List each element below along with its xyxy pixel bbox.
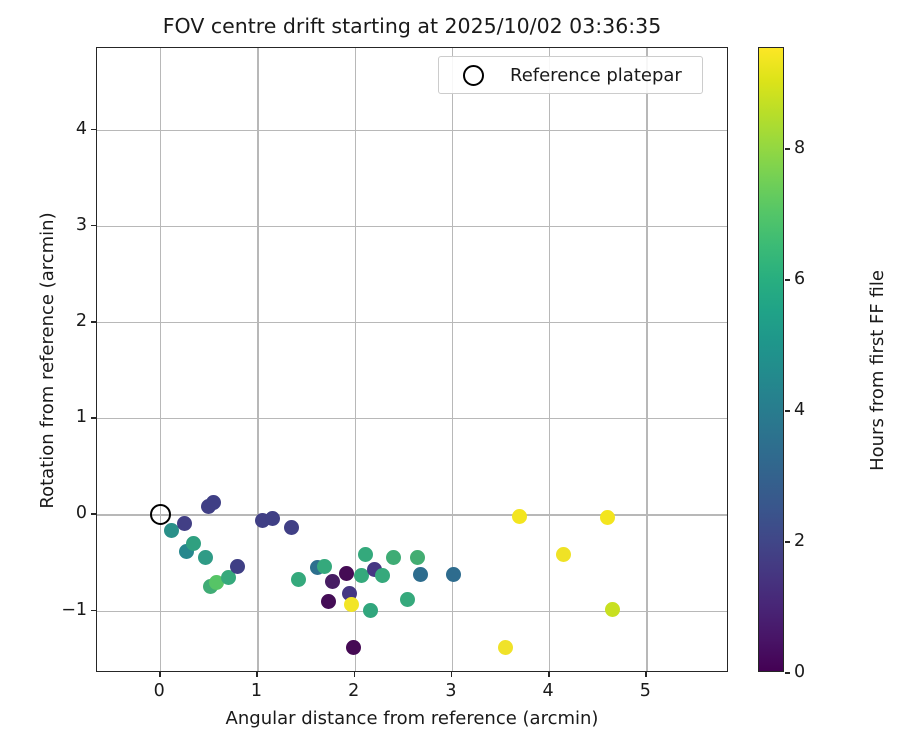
colorbar-tick-label: 6 — [794, 269, 805, 289]
scatter-point — [413, 567, 428, 582]
y-tick — [91, 513, 96, 515]
y-tick — [91, 225, 96, 227]
reference-platepar-point — [150, 504, 171, 525]
x-tick-label: 5 — [640, 681, 651, 701]
scatter-point — [358, 547, 373, 562]
plot-area — [96, 47, 728, 672]
scatter-point — [386, 550, 401, 565]
scatter-point — [265, 511, 280, 526]
y-tick-label: 2 — [76, 311, 87, 331]
x-tick-label: 0 — [154, 681, 165, 701]
scatter-point — [498, 640, 513, 655]
y-axis-label: Rotation from reference (arcmin) — [37, 48, 58, 673]
scatter-point — [605, 602, 620, 617]
scatter-point — [344, 597, 359, 612]
x-tick-label: 2 — [348, 681, 359, 701]
scatter-points-layer — [97, 48, 727, 671]
colorbar-tick — [785, 148, 790, 150]
colorbar-label: Hours from first FF file — [867, 58, 888, 683]
x-tick — [645, 672, 647, 677]
scatter-point — [317, 559, 332, 574]
colorbar — [758, 47, 784, 672]
y-tick-label: −1 — [61, 600, 87, 620]
scatter-point — [375, 568, 390, 583]
scatter-point — [321, 594, 336, 609]
chart-title: FOV centre drift starting at 2025/10/02 … — [96, 14, 728, 38]
y-tick — [91, 129, 96, 131]
x-tick — [256, 672, 258, 677]
y-tick — [91, 417, 96, 419]
colorbar-tick — [785, 410, 790, 412]
scatter-point — [512, 509, 527, 524]
reference-platepar-marker-icon — [463, 65, 484, 86]
scatter-point — [446, 567, 461, 582]
scatter-point — [556, 547, 571, 562]
legend-item-label: Reference platepar — [510, 65, 690, 86]
x-tick — [354, 672, 356, 677]
colorbar-tick — [785, 279, 790, 281]
scatter-point — [186, 536, 201, 551]
scatter-point — [339, 566, 354, 581]
y-tick-label: 3 — [76, 215, 87, 235]
x-tick-label: 4 — [543, 681, 554, 701]
figure: FOV centre drift starting at 2025/10/02 … — [0, 0, 900, 750]
scatter-point — [325, 574, 340, 589]
colorbar-tick-label: 8 — [794, 138, 805, 158]
colorbar-tick — [785, 672, 790, 674]
y-tick-label: 0 — [76, 503, 87, 523]
x-axis-label: Angular distance from reference (arcmin) — [96, 708, 728, 729]
scatter-point — [400, 592, 415, 607]
scatter-point — [346, 640, 361, 655]
y-tick — [91, 321, 96, 323]
colorbar-tick-label: 0 — [794, 662, 805, 682]
scatter-point — [363, 603, 378, 618]
colorbar-tick-label: 2 — [794, 531, 805, 551]
x-tick-label: 3 — [445, 681, 456, 701]
scatter-point — [198, 550, 213, 565]
legend: Reference platepar — [438, 56, 703, 94]
x-tick-label: 1 — [251, 681, 262, 701]
colorbar-gradient — [758, 47, 784, 672]
x-tick — [451, 672, 453, 677]
x-tick — [548, 672, 550, 677]
y-tick — [91, 610, 96, 612]
scatter-point — [600, 510, 615, 525]
colorbar-tick — [785, 541, 790, 543]
y-tick-label: 1 — [76, 407, 87, 427]
scatter-point — [177, 516, 192, 531]
y-tick-label: 4 — [76, 119, 87, 139]
x-tick — [159, 672, 161, 677]
scatter-point — [284, 520, 299, 535]
scatter-point — [410, 550, 425, 565]
scatter-point — [291, 572, 306, 587]
scatter-point — [206, 495, 221, 510]
scatter-point — [230, 559, 245, 574]
colorbar-tick-label: 4 — [794, 400, 805, 420]
